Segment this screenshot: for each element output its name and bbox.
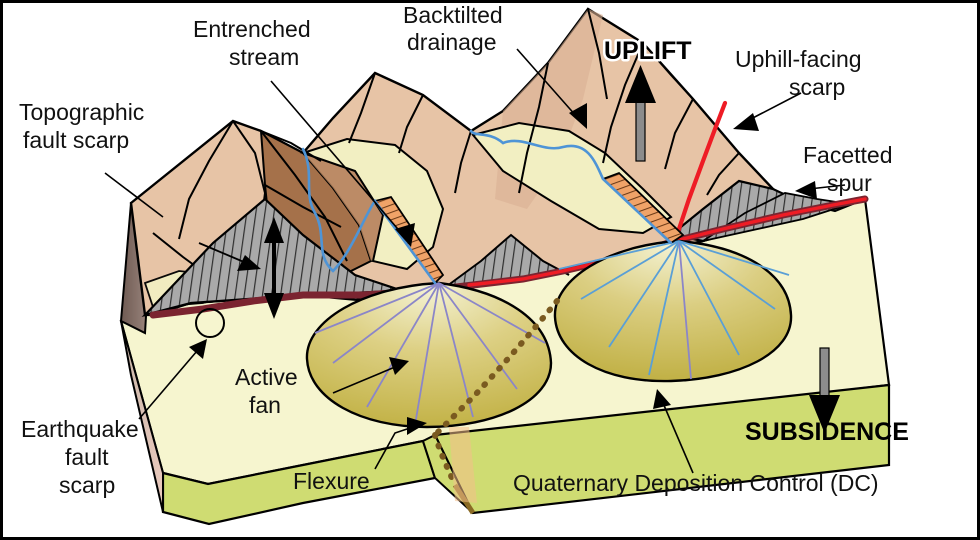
label-uphill-facing-scarp-line1: Uphill-facing <box>735 46 862 72</box>
figure-frame: Topographic fault scarp Entrenched strea… <box>0 0 980 540</box>
label-facetted-spur-line2: spur <box>827 170 872 196</box>
label-active-fan-line2: fan <box>249 392 281 418</box>
label-topographic-fault-scarp-line2: fault scarp <box>23 127 129 153</box>
label-flexure: Flexure <box>293 468 370 494</box>
label-earthquake-fault-scarp-line1: Earthquake <box>21 416 139 442</box>
label-entrenched-stream-line2: stream <box>229 44 299 70</box>
label-backtilted-drainage-line1: Backtilted <box>403 3 503 28</box>
label-backtilted-drainage-line2: drainage <box>407 29 497 55</box>
arrowhead-uphill-facing-scarp <box>733 113 759 131</box>
label-earthquake-fault-scarp-line2: fault <box>65 444 109 470</box>
label-quaternary-deposition-control: Quaternary Deposition Control (DC) <box>513 470 879 496</box>
label-earthquake-fault-scarp-line3: scarp <box>59 472 115 498</box>
label-topographic-fault-scarp-line1: Topographic <box>19 99 144 125</box>
label-entrenched-stream-line1: Entrenched <box>193 16 311 42</box>
label-active-fan-line1: Active <box>235 364 298 390</box>
label-uplift: UPLIFT <box>604 37 692 65</box>
label-uphill-facing-scarp-line2: scarp <box>789 74 845 100</box>
block-diagram-canvas: Topographic fault scarp Entrenched strea… <box>3 3 977 537</box>
label-subsidence: SUBSIDENCE <box>745 418 909 446</box>
label-facetted-spur-line1: Facetted <box>803 142 893 168</box>
